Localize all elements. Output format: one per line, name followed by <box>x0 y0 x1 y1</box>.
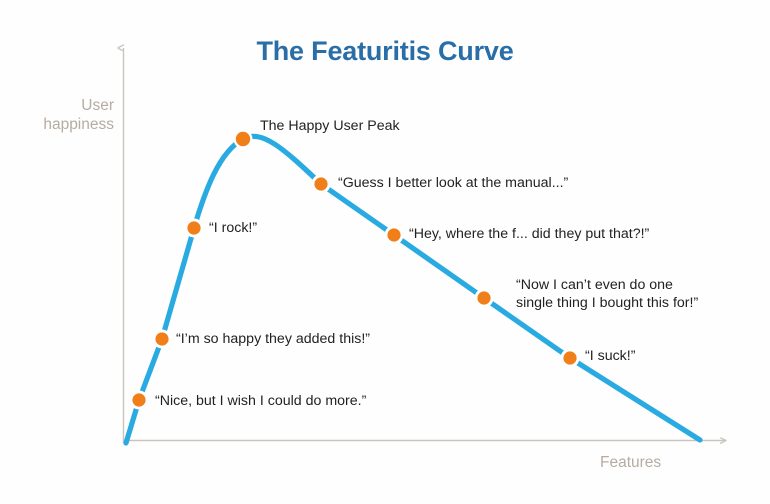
annotation-nice-but-wish-more: “Nice, but I wish I could do more.” <box>155 393 366 411</box>
data-point-marker-peak[interactable] <box>236 132 250 146</box>
annotation-i-suck: “I suck!” <box>585 348 635 366</box>
data-point-marker[interactable] <box>187 221 200 234</box>
annotation-cant-do-one-single-thing: “Now I can’t even do one single thing I … <box>516 277 698 312</box>
annotation-so-happy-added-this: “I’m so happy they added this!” <box>176 331 370 349</box>
annotation-look-at-manual: “Guess I better look at the manual...” <box>338 175 568 193</box>
annotation-happy-user-peak: The Happy User Peak <box>260 118 400 136</box>
data-point-marker[interactable] <box>387 228 400 241</box>
annotation-i-rock: “I rock!” <box>209 220 257 238</box>
data-point-marker[interactable] <box>314 177 327 190</box>
data-point-markers <box>130 130 580 410</box>
chart-title: The Featuritis Curve <box>0 36 770 67</box>
data-point-marker[interactable] <box>477 291 490 304</box>
annotation-where-did-they-put-that: “Hey, where the f... did they put that?!… <box>409 226 649 244</box>
data-point-marker[interactable] <box>563 351 576 364</box>
featuritis-curve-plot <box>0 0 770 504</box>
y-axis-label: User happiness <box>14 96 114 134</box>
x-axis-label: Features <box>600 453 730 472</box>
data-point-marker[interactable] <box>132 393 145 406</box>
chart-canvas: The Featuritis Curve User happiness Feat… <box>0 0 770 504</box>
data-point-marker[interactable] <box>155 332 168 345</box>
